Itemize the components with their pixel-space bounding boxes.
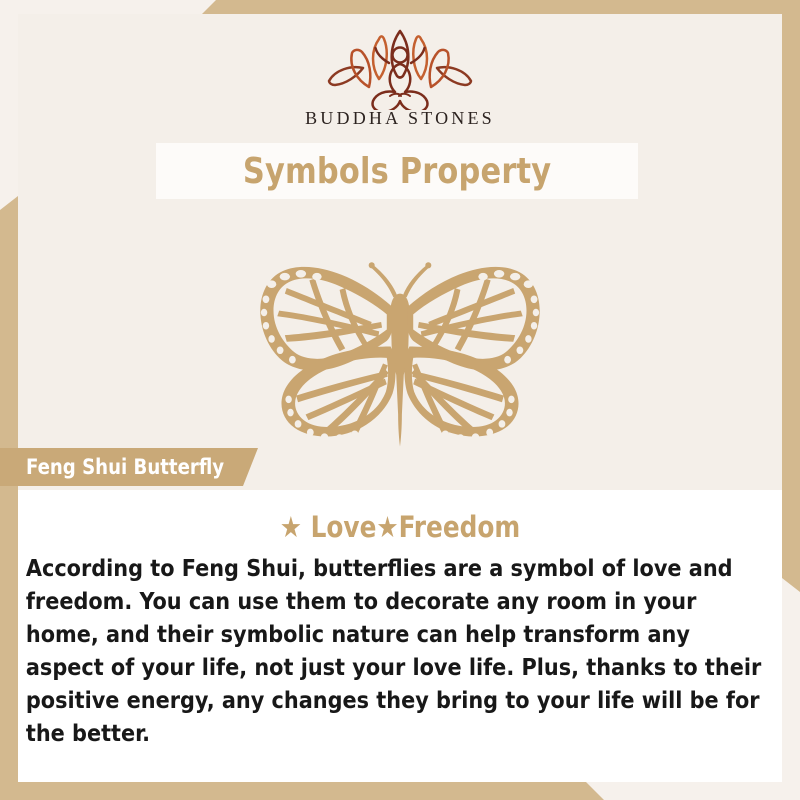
description-panel: ★ Love★Freedom According to Feng Shui, b… <box>18 490 782 782</box>
page-title: Symbols Property <box>243 151 551 192</box>
artwork-area <box>18 204 782 472</box>
feng-shui-label-banner: Feng Shui Butterfly <box>0 448 258 486</box>
poster-root: BUDDHA STONES Symbols Property <box>0 0 800 800</box>
frame-band-top <box>0 0 800 14</box>
love-freedom-subheading: ★ Love★Freedom <box>37 490 763 544</box>
frame-band-left <box>0 196 18 800</box>
title-banner: Symbols Property <box>156 143 638 199</box>
brand-header: BUDDHA STONES <box>18 14 782 140</box>
description-body: According to Feng Shui, butterflies are … <box>18 544 771 750</box>
brand-name: BUDDHA STONES <box>305 108 495 129</box>
frame-band-bottom <box>0 782 800 800</box>
feng-shui-label-text: Feng Shui Butterfly <box>26 455 224 479</box>
frame-band-right <box>782 0 800 592</box>
butterfly-icon <box>230 220 570 456</box>
lotus-meditation-icon <box>315 26 485 110</box>
